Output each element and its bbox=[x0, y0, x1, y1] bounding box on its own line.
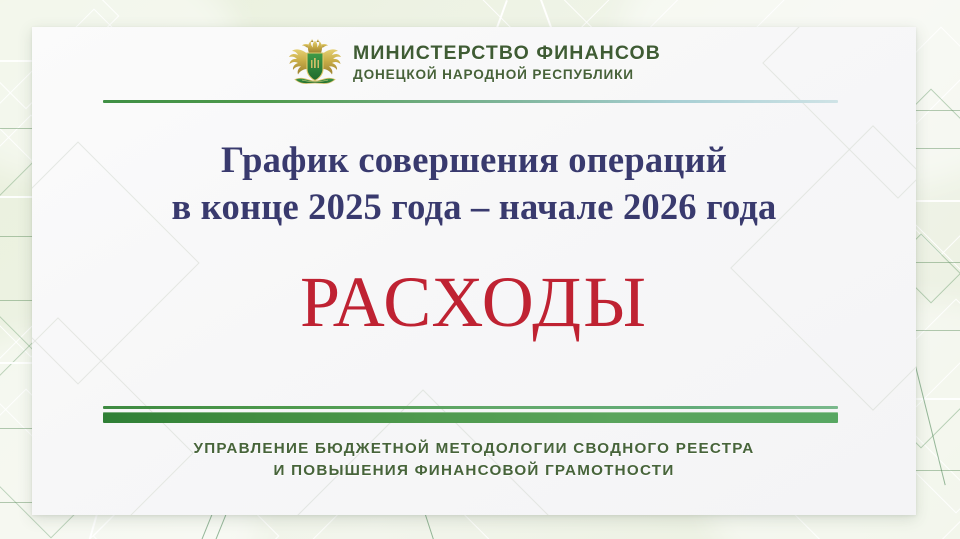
coat-of-arms-icon bbox=[287, 38, 343, 88]
presentation-slide: МИНИСТЕРСТВО ФИНАНСОВ ДОНЕЦКОЙ НАРОДНОЙ … bbox=[0, 0, 960, 539]
ministry-logo-text: МИНИСТЕРСТВО ФИНАНСОВ ДОНЕЦКОЙ НАРОДНОЙ … bbox=[353, 44, 661, 81]
slide-title-line2: в конце 2025 года – начале 2026 года bbox=[32, 184, 916, 231]
footer-divider-thin bbox=[103, 406, 838, 409]
footer-divider-thick bbox=[103, 412, 838, 423]
slide-title: График совершения операций в конце 2025 … bbox=[32, 137, 916, 230]
footer-department-line2: И ПОВЫШЕНИЯ ФИНАНСОВОЙ ГРАМОТНОСТИ bbox=[32, 460, 916, 482]
header-divider bbox=[103, 100, 838, 103]
footer-department: УПРАВЛЕНИЕ БЮДЖЕТНОЙ МЕТОДОЛОГИИ СВОДНОГ… bbox=[32, 438, 916, 482]
ministry-logo: МИНИСТЕРСТВО ФИНАНСОВ ДОНЕЦКОЙ НАРОДНОЙ … bbox=[32, 38, 916, 88]
slide-headline: РАСХОДЫ bbox=[32, 266, 916, 338]
footer-divider bbox=[103, 406, 838, 423]
slide-card: МИНИСТЕРСТВО ФИНАНСОВ ДОНЕЦКОЙ НАРОДНОЙ … bbox=[32, 27, 916, 515]
ministry-name-line2: ДОНЕЦКОЙ НАРОДНОЙ РЕСПУБЛИКИ bbox=[353, 68, 661, 82]
slide-title-line1: График совершения операций bbox=[32, 137, 916, 184]
footer-department-line1: УПРАВЛЕНИЕ БЮДЖЕТНОЙ МЕТОДОЛОГИИ СВОДНОГ… bbox=[32, 438, 916, 460]
ministry-name-line1: МИНИСТЕРСТВО ФИНАНСОВ bbox=[353, 44, 661, 64]
